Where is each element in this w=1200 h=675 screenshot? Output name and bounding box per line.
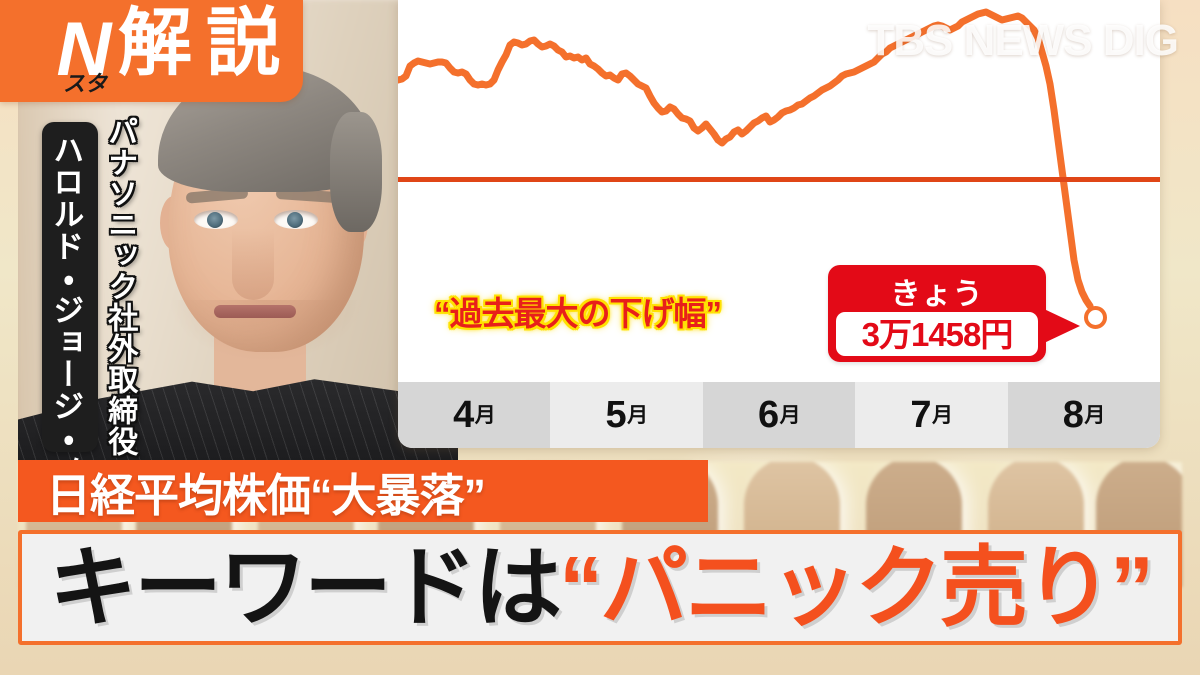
broadcast-screenshot: 4 月 5 月 6 月 7 月 8 月 “過去最大の下げ幅” きょう: [0, 0, 1200, 675]
month-axis: 4 月 5 月 6 月 7 月 8 月: [398, 382, 1160, 448]
axis-tick-suffix: 月: [932, 405, 953, 426]
today-value-callout: きょう 3万1458円: [828, 265, 1046, 362]
network-watermark: TBS NEWS DIG: [867, 16, 1178, 66]
headline-bar: キーワードは“パニック売り”: [18, 530, 1182, 645]
axis-tick-number: 4: [453, 396, 474, 434]
guest-title: パナソニック社外取締役: [104, 116, 135, 457]
axis-tick-suffix: 月: [780, 405, 801, 426]
callout-label: きょう: [828, 269, 1046, 313]
callout-value: 3万1458円: [862, 318, 1013, 351]
axis-tick-5: 5 月: [550, 382, 702, 448]
axis-tick-number: 6: [758, 396, 779, 434]
axis-tick-7: 7 月: [855, 382, 1007, 448]
headline-text-keyword: “パニック売り”: [559, 538, 1151, 637]
axis-tick-suffix: 月: [627, 405, 648, 426]
axis-tick-number: 5: [606, 396, 627, 434]
subtitle-text: 日経平均株価“大暴落”: [46, 459, 485, 524]
axis-tick-suffix: 月: [475, 405, 496, 426]
axis-tick-suffix: 月: [1084, 405, 1105, 426]
stock-chart-panel: 4 月 5 月 6 月 7 月 8 月: [398, 0, 1160, 448]
axis-tick-number: 8: [1063, 396, 1084, 434]
axis-tick-4: 4 月: [398, 382, 550, 448]
callout-value-box: 3万1458円: [836, 312, 1038, 356]
headline-text-primary: キーワードは: [49, 538, 559, 637]
record-drop-annotation: “過去最大の下げ幅”: [434, 287, 721, 335]
subtitle-bar: 日経平均株価“大暴落”: [18, 460, 708, 522]
axis-tick-6: 6 月: [703, 382, 855, 448]
program-logo: N スタ 解 説: [0, 0, 303, 102]
callout-pointer: [1044, 309, 1080, 343]
logo-kai-char: 解: [118, 6, 192, 80]
today-data-point-marker: [1084, 306, 1107, 329]
logo-sta-text: スタ: [46, 66, 124, 98]
reference-line: [398, 177, 1160, 182]
axis-tick-number: 7: [910, 396, 931, 434]
axis-tick-8: 8 月: [1008, 382, 1160, 448]
logo-setsu-char: 説: [206, 6, 280, 80]
